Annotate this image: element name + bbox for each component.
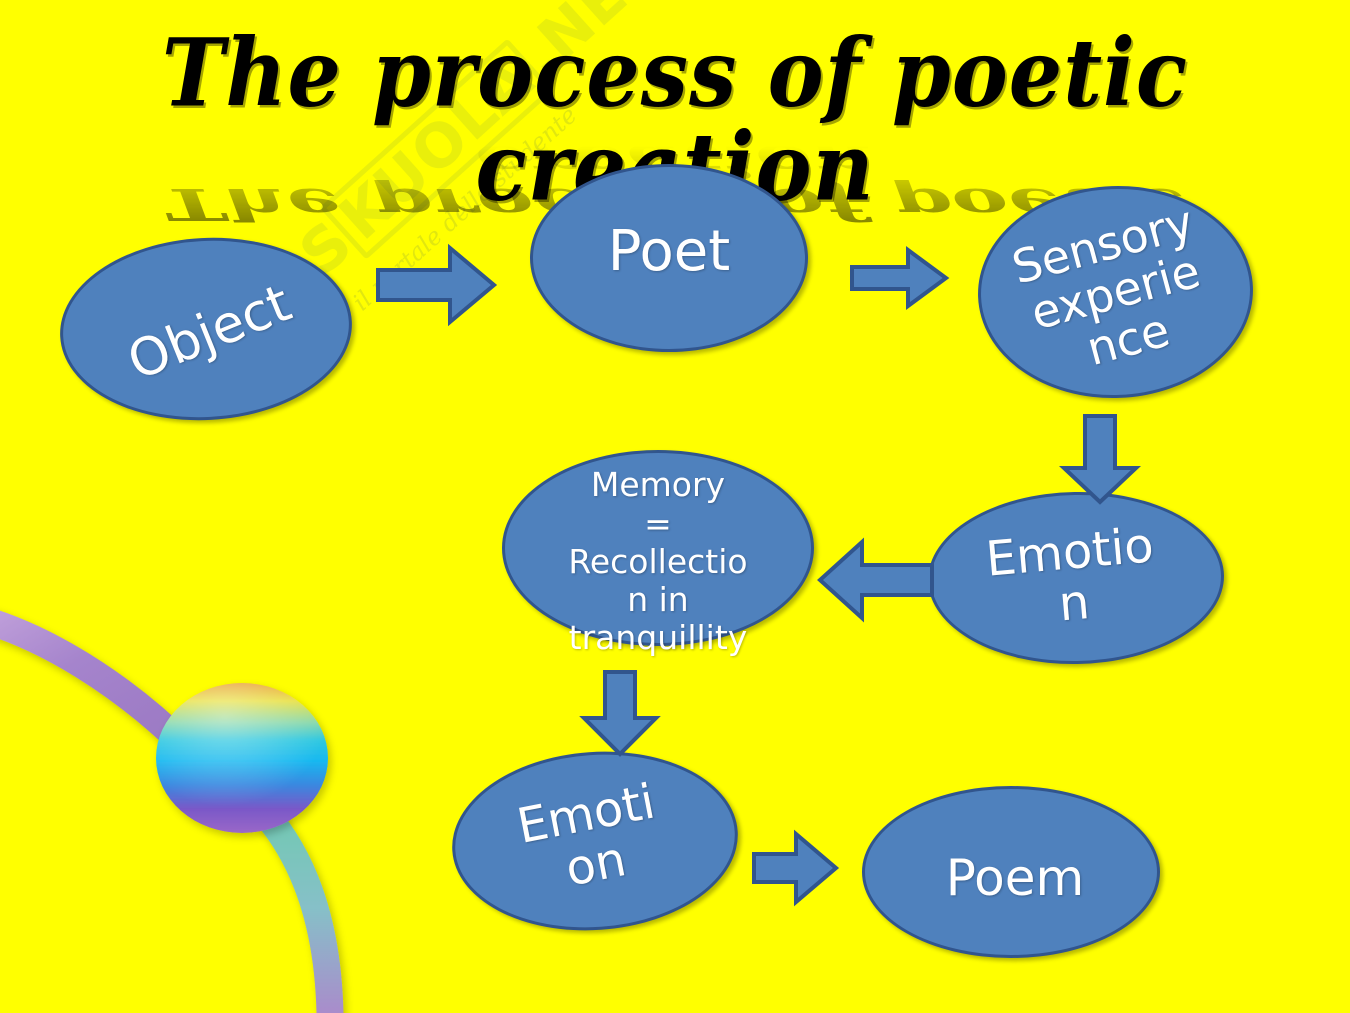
node-emotion-second[interactable]: Emoti on [446, 742, 744, 940]
node-emotion-first-label: Emotio n [984, 520, 1160, 636]
node-object-label: Object [121, 277, 299, 392]
watermark-logo-boxed: KUOLA [320, 38, 555, 259]
deco-sphere-highlight [156, 683, 328, 833]
arrow-down-icon-sensory-to-emotion [1062, 414, 1138, 504]
node-object[interactable]: Object [55, 230, 356, 427]
node-poem[interactable]: Poem [862, 786, 1160, 958]
watermark-logo-suffix: .NET [507, 0, 672, 90]
node-emotion-first[interactable]: Emotio n [927, 489, 1226, 666]
node-memory[interactable]: Memory = Recollectio n in tranquillity [502, 450, 814, 646]
node-memory-label: Memory = Recollectio n in tranquillity [568, 466, 747, 657]
arrow-right-icon-object-to-poet [376, 246, 496, 324]
arrow-down-icon-memory-to-emotion [582, 670, 658, 756]
slide-canvas: SKUOLA.NET il portale dello studente The… [0, 0, 1350, 1013]
arrow-left-icon-emotion-to-memory [818, 540, 934, 620]
deco-stem-lower [272, 822, 330, 1013]
deco-sphere [156, 683, 328, 833]
deco-stem-upper [0, 618, 170, 732]
rainbow-sphere-decoration [0, 600, 390, 1013]
node-poem-label: Poem [946, 852, 1084, 905]
node-sensory-experience-label: Sensory experie nce [1007, 197, 1223, 386]
arrow-right-icon-emotion-to-poem [752, 832, 838, 904]
node-sensory-experience[interactable]: Sensory experie nce [974, 181, 1256, 402]
node-emotion-second-label: Emoti on [513, 777, 668, 903]
node-poet-label: Poet [608, 222, 730, 281]
node-poet[interactable]: Poet [530, 164, 808, 352]
arrow-right-icon-poet-to-sensory [850, 248, 948, 308]
